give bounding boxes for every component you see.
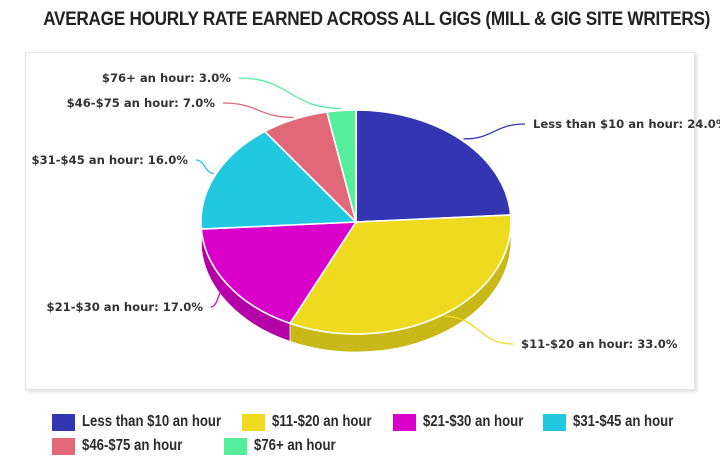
legend-item-0-0[interactable]: Less than $10 an hour (52, 410, 242, 434)
legend-label: $76+ an hour (254, 437, 336, 455)
legend-swatch-icon (242, 414, 265, 431)
legend-row-1: $46-$75 an hour$76+ an hour (52, 434, 692, 458)
legend-label: Less than $10 an hour (82, 413, 221, 431)
legend-swatch-icon (52, 414, 75, 431)
legend-swatch-icon (543, 414, 566, 431)
legend-swatch-icon (224, 438, 247, 455)
legend-item-0-1[interactable]: $11-$20 an hour (242, 410, 393, 434)
legend-item-1-1[interactable]: $76+ an hour (224, 434, 384, 458)
legend-item-1-0[interactable]: $46-$75 an hour (52, 434, 224, 458)
legend-label: $11-$20 an hour (272, 413, 372, 431)
legend-row-0: Less than $10 an hour$11-$20 an hour$21-… (52, 410, 692, 434)
legend-label: $21-$30 an hour (423, 413, 523, 431)
legend-swatch-icon (393, 414, 416, 431)
chart-title: AVERAGE HOURLY RATE EARNED ACROSS ALL GI… (43, 8, 677, 31)
legend-label: $31-$45 an hour (573, 413, 673, 431)
legend-swatch-icon (52, 438, 75, 455)
plot-panel (25, 52, 695, 390)
legend-label: $46-$75 an hour (82, 437, 182, 455)
legend-item-0-2[interactable]: $21-$30 an hour (393, 410, 544, 434)
chart-legend: Less than $10 an hour$11-$20 an hour$21-… (52, 410, 692, 458)
legend-item-0-3[interactable]: $31-$45 an hour (543, 410, 692, 434)
